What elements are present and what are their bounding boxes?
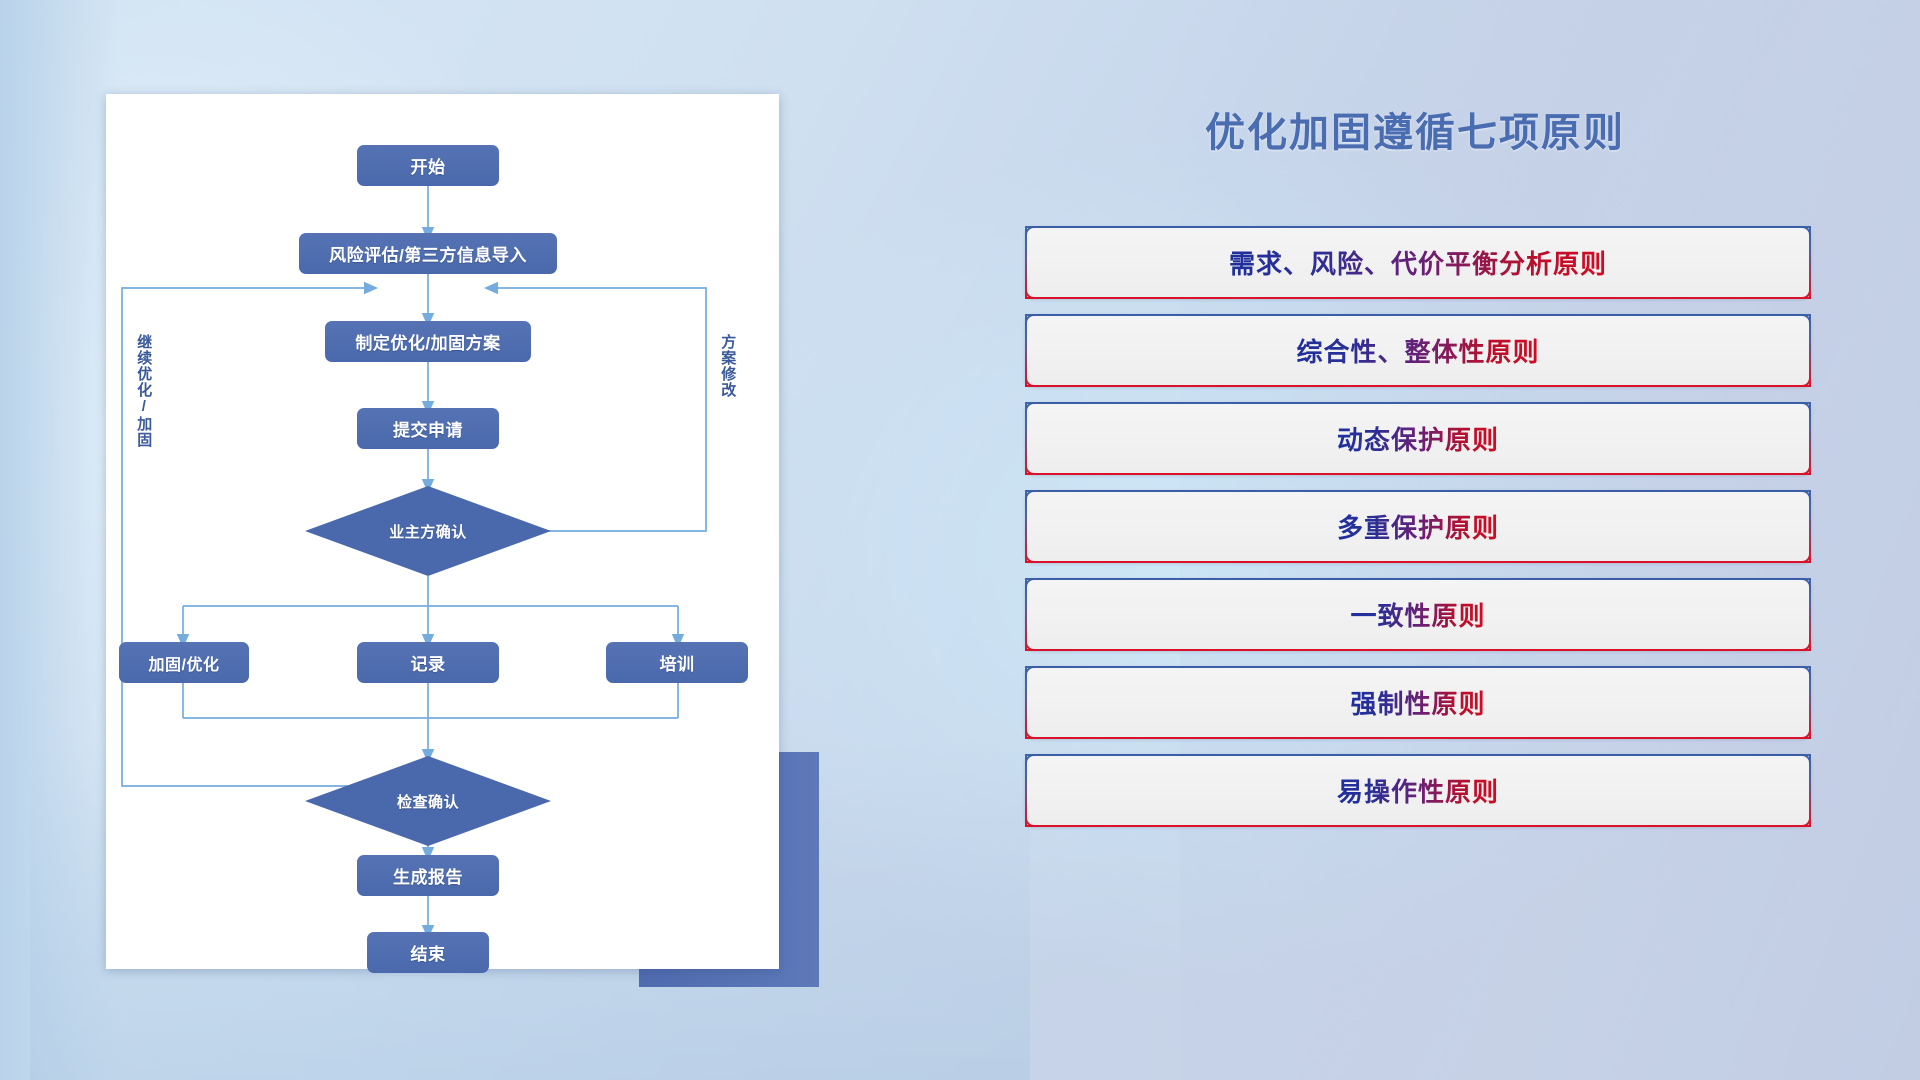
principle-label: 多重保护原则 xyxy=(1337,508,1499,545)
principles-panel: 优化加固遵循七项原则 需求、风险、代价平衡分析原则 综合性、整体性原则 动态保护… xyxy=(1010,100,1820,1000)
flow-node-record[interactable]: 记录 xyxy=(357,642,499,683)
flow-node-make-plan[interactable]: 制定优化/加固方案 xyxy=(325,321,531,362)
flow-node-check-confirm[interactable]: 检查确认 xyxy=(305,756,551,846)
flow-node-owner-confirm[interactable]: 业主方确认 xyxy=(305,486,551,576)
flow-node-submit-application[interactable]: 提交申请 xyxy=(357,408,499,449)
flow-node-risk-assessment[interactable]: 风险评估/第三方信息导入 xyxy=(299,233,557,274)
principle-list: 需求、风险、代价平衡分析原则 综合性、整体性原则 动态保护原则 多重保护原则 一… xyxy=(1025,226,1811,842)
flow-node-reinforce-optimize[interactable]: 加固/优化 xyxy=(119,642,249,683)
flow-edge-label-continue-optimize: 继续优化/加固 xyxy=(136,334,151,514)
flow-node-generate-report[interactable]: 生成报告 xyxy=(357,855,499,896)
page-title: 优化加固遵循七项原则 xyxy=(1010,100,1820,158)
flow-node-training[interactable]: 培训 xyxy=(606,642,748,683)
principle-label: 一致性原则 xyxy=(1350,596,1485,633)
flow-node-end[interactable]: 结束 xyxy=(367,932,489,973)
flow-node-start[interactable]: 开始 xyxy=(357,145,499,186)
list-item[interactable]: 强制性原则 xyxy=(1025,666,1811,739)
list-item[interactable]: 动态保护原则 xyxy=(1025,402,1811,475)
flowchart-card: 开始 风险评估/第三方信息导入 制定优化/加固方案 提交申请 业主方确认 加固/… xyxy=(106,94,779,969)
principle-label: 综合性、整体性原则 xyxy=(1296,332,1539,369)
flow-node-check-confirm-label: 检查确认 xyxy=(397,791,459,812)
flow-node-owner-confirm-label: 业主方确认 xyxy=(389,521,467,542)
flow-edge-label-plan-revision: 方案修改 xyxy=(720,334,735,464)
list-item[interactable]: 综合性、整体性原则 xyxy=(1025,314,1811,387)
list-item[interactable]: 一致性原则 xyxy=(1025,578,1811,651)
principle-label: 易操作性原则 xyxy=(1337,772,1499,809)
list-item[interactable]: 多重保护原则 xyxy=(1025,490,1811,563)
list-item[interactable]: 需求、风险、代价平衡分析原则 xyxy=(1025,226,1811,299)
principle-label: 动态保护原则 xyxy=(1337,420,1499,457)
principle-label: 需求、风险、代价平衡分析原则 xyxy=(1229,244,1607,281)
background-wash-left xyxy=(0,0,120,1080)
list-item[interactable]: 易操作性原则 xyxy=(1025,754,1811,827)
principle-label: 强制性原则 xyxy=(1350,684,1485,721)
